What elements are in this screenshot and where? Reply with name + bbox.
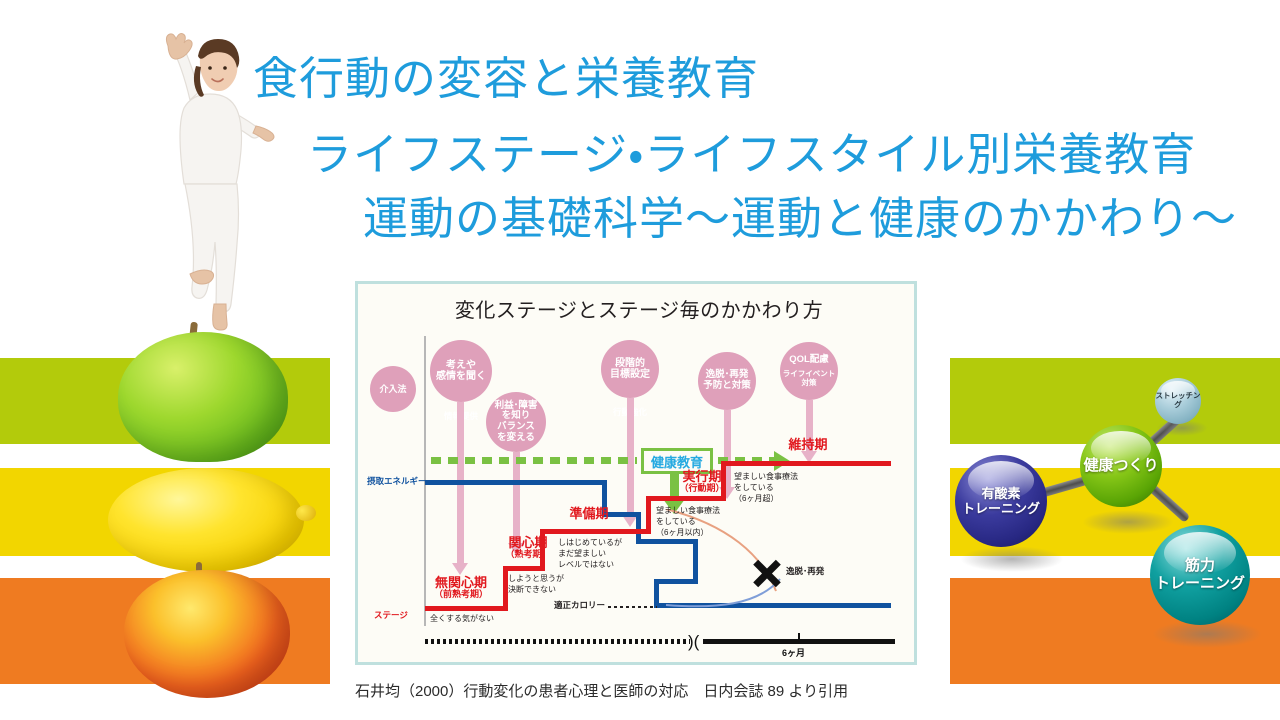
intervention-2-line4: を変える	[497, 433, 535, 444]
stage-4-note: 望ましい食事療法 をしている （6ヶ月超）	[734, 472, 798, 504]
stage-2-note-l2: まだ望ましい	[558, 549, 622, 560]
red-step-2	[503, 566, 545, 571]
stage-name-1: 関心期 （熟考期）	[488, 536, 568, 560]
stage-name-4: 維持期	[770, 438, 846, 452]
red-step-5	[721, 461, 891, 466]
source-caption: 石井均（2000）行動変化の患者心理と医師の対応 日内会誌 89 より引用	[355, 680, 848, 701]
intervention-circle-4: 逸脱･再発 予防と対策	[698, 352, 756, 410]
relapse-x-icon	[751, 558, 781, 588]
stage-1-note-l2: 決断できない	[508, 585, 564, 596]
sphere-center-text: 健康つくり	[1083, 457, 1158, 475]
sphere-stretching: ストレッチング	[1155, 378, 1201, 424]
shadow-center	[1082, 510, 1174, 534]
intervention-5-sub2: 対策	[802, 379, 817, 387]
slide-canvas: 食行動の変容と栄養教育 ライフステージ・ライフスタイル別栄養教育 運動の基礎科学…	[0, 0, 1280, 720]
sphere-strength-training: 筋力 トレーニング	[1150, 525, 1250, 625]
stage-4-note-l2: をしている	[734, 483, 798, 494]
sphere-center-line1: 健康つくり	[1083, 457, 1158, 475]
red-apple	[124, 570, 290, 698]
intervention-method-label: 介入法	[379, 384, 406, 394]
proper-calorie-label: 適正カロリー	[554, 599, 605, 611]
stage-0-alt: （前熟考期）	[413, 590, 509, 600]
stage-3-note-l1: 望ましい食事療法	[656, 506, 720, 517]
stage-2-note: しはじめているが まだ望ましい レベルではない	[558, 538, 622, 570]
stage-3-note: 望ましい食事療法 をしている （6ヶ月以内）	[656, 506, 720, 538]
lemon	[108, 468, 304, 572]
intake-energy-label: 摂取エネルギー	[367, 475, 427, 487]
change-stage-diagram: 変化ステージとステージ毎のかかわり方 介入法 考えや 感情を聞く 情報提供 利益…	[355, 281, 917, 665]
intervention-circle-5: QOL配慮 ライフイベント 対策	[780, 342, 838, 400]
stage-4-note-l3: （6ヶ月超）	[734, 494, 798, 505]
stage-2-note-l3: レベルではない	[558, 560, 622, 571]
stage-name-0: 無関心期 （前熟考期）	[413, 576, 509, 600]
stage-0-note: 全くする気がない	[430, 614, 494, 625]
sphere-aerobic-line1: 有酸素	[962, 486, 1040, 501]
proper-calorie-leader	[608, 606, 657, 608]
stage-0-main: 無関心期	[435, 575, 487, 590]
red-step-4	[646, 496, 726, 501]
stage-2-main: 準備期	[569, 506, 608, 521]
title-line-2: ライフステージ・ライフスタイル別栄養教育	[307, 118, 1196, 183]
sphere-strength-text: 筋力 トレーニング	[1155, 557, 1245, 592]
stage-2-note-l1: しはじめているが	[558, 538, 622, 549]
sphere-aerobic-training: 有酸素 トレーニング	[955, 455, 1047, 547]
stage-4-note-l1: 望ましい食事療法	[734, 472, 798, 483]
stage-1-note: しようと思うが 決断できない	[508, 574, 564, 596]
sphere-aerobic-line2: トレーニング	[962, 501, 1040, 516]
intervention-circle-1: 考えや 感情を聞く	[430, 340, 492, 402]
intervention-3-line1: 段階的	[615, 358, 645, 369]
intervention-5-line1: QOL配慮	[789, 355, 829, 366]
health-education-label: 健康教育	[651, 452, 703, 471]
stage-3-note-l3: （6ヶ月以内）	[656, 528, 720, 539]
timeline-dotted-segment	[425, 639, 690, 644]
stage-3-alt: （行動期）	[666, 484, 738, 494]
intervention-4-line2: 予防と対策	[703, 381, 751, 392]
stage-name-3: 実行期 （行動期）	[666, 470, 738, 494]
timeline-tick	[798, 633, 800, 641]
red-step-3	[540, 529, 651, 534]
health-sphere-cluster: 有酸素 トレーニング 健康つくり 筋力 トレーニング ストレッチング	[930, 370, 1280, 660]
stage-3-note-l2: をしている	[656, 517, 720, 528]
green-apple	[118, 332, 288, 462]
stage-name-2: 準備期	[554, 507, 624, 521]
sphere-strength-line1: 筋力	[1155, 557, 1245, 575]
sphere-strength-line2: トレーニング	[1155, 575, 1245, 593]
sphere-stretch-line1: ストレッチング	[1155, 392, 1201, 410]
shadow-aerobic	[960, 546, 1064, 572]
slide-title-block: 食行動の変容と栄養教育 ライフステージ・ライフスタイル別栄養教育 運動の基礎科学…	[0, 0, 1280, 250]
relapse-label: 逸脱･再発	[786, 565, 824, 577]
title-line-1: 食行動の変容と栄養教育	[253, 42, 759, 107]
sphere-stretch-text: ストレッチング	[1155, 392, 1201, 410]
red-step-1	[425, 606, 508, 611]
sphere-aerobic-text: 有酸素 トレーニング	[962, 486, 1040, 517]
blue-step-1	[425, 480, 606, 485]
stage-1-alt: （熟考期）	[488, 550, 568, 560]
intervention-circle-2: 利益･障害 を知り バランス を変える	[486, 392, 546, 452]
stage-axis-label: ステージ	[374, 609, 408, 621]
diagram-title: 変化ステージとステージ毎のかかわり方	[358, 294, 920, 323]
timeline-break-icon: )(	[688, 632, 699, 652]
lemon-tip	[296, 505, 316, 521]
intervention-circle-3: 段階的 目標設定	[601, 340, 659, 398]
stage-1-main: 関心期	[508, 535, 547, 550]
timeline-6month-label: 6ヶ月	[782, 646, 805, 659]
sphere-health-building: 健康つくり	[1080, 425, 1162, 507]
stage-4-main: 維持期	[788, 437, 827, 452]
stage-3-main: 実行期	[682, 469, 721, 484]
intervention-1-line1: 考えや	[446, 360, 476, 371]
intervention-arrow-2	[513, 452, 520, 544]
health-education-dash-left	[431, 457, 637, 464]
intervention-1-line2: 感情を聞く	[436, 371, 486, 382]
stage-1-note-l1: しようと思うが	[508, 574, 564, 585]
intervention-3-line2: 目標設定	[610, 369, 650, 380]
intervention-method-badge: 介入法	[370, 366, 416, 412]
red-riser-3	[646, 496, 651, 534]
title-line-3: 運動の基礎科学〜運動と健康のかかわり〜	[363, 182, 1237, 247]
